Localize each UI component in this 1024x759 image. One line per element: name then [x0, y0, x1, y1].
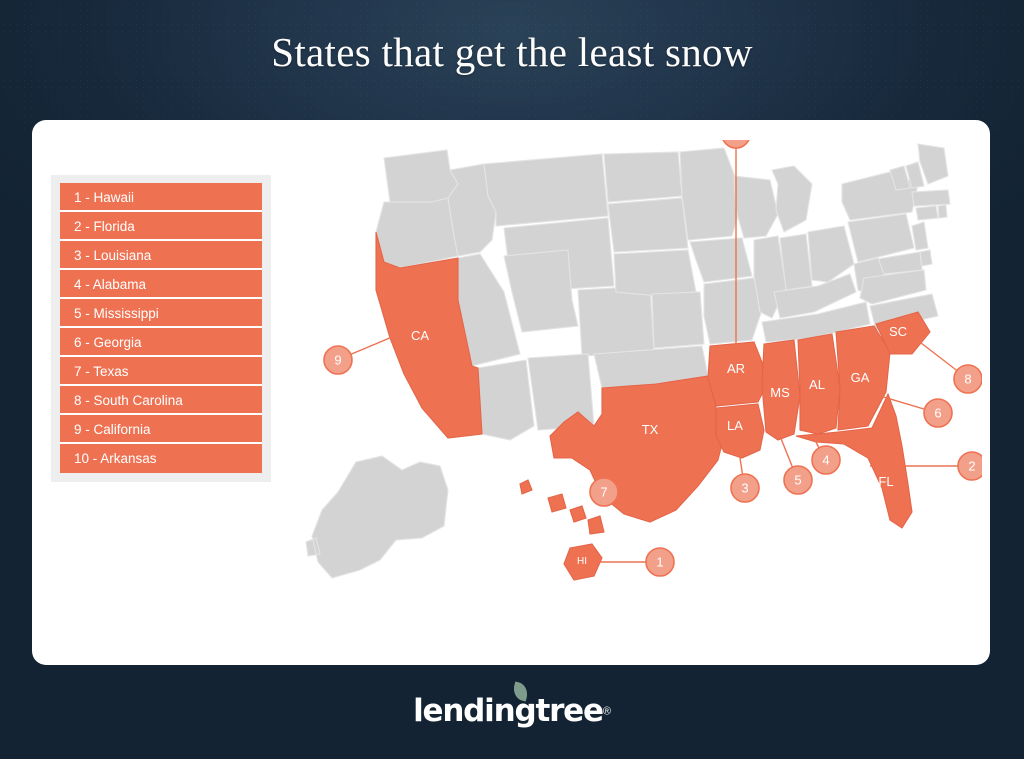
legend-item-8[interactable]: 8 - South Carolina [60, 386, 262, 415]
legend-item-2[interactable]: 2 - Florida [60, 212, 262, 241]
state-az [478, 360, 534, 440]
abbr-ms: MS [770, 385, 790, 400]
lendingtree-wordmark: lendingtree [413, 693, 603, 729]
svg-text:6: 6 [934, 406, 941, 421]
abbr-ga: GA [851, 370, 870, 385]
marker-4[interactable]: 4 [812, 446, 840, 474]
legend-item-10[interactable]: 10 - Arkansas [60, 444, 262, 473]
state-mo [704, 278, 762, 344]
legend-item-6[interactable]: 6 - Georgia [60, 328, 262, 357]
state-ma [912, 190, 950, 206]
legend-panel: 1 - Hawaii 2 - Florida 3 - Louisiana 4 -… [51, 175, 271, 482]
abbr-hi: HI [577, 556, 587, 567]
marker-7[interactable]: 7 [590, 478, 618, 506]
state-mi [772, 166, 812, 232]
svg-text:4: 4 [822, 453, 829, 468]
svg-text:5: 5 [794, 473, 801, 488]
marker-9[interactable]: 9 [324, 346, 352, 374]
abbr-ca: CA [411, 328, 429, 343]
legend-item-1[interactable]: 1 - Hawaii [60, 183, 262, 212]
state-mt [484, 154, 608, 226]
marker-10[interactable]: 10 [722, 140, 750, 148]
marker-8[interactable]: 8 [954, 365, 982, 393]
state-ak [306, 456, 448, 578]
state-sd [608, 198, 688, 252]
state-mn [680, 148, 742, 240]
svg-text:3: 3 [741, 481, 748, 496]
svg-text:2: 2 [968, 459, 975, 474]
page-title: States that get the least snow [0, 28, 1024, 76]
svg-text:10: 10 [729, 140, 743, 142]
marker-1[interactable]: 1 [646, 548, 674, 576]
marker-3[interactable]: 3 [731, 474, 759, 502]
svg-text:1: 1 [656, 555, 663, 570]
state-in [780, 234, 812, 290]
state-wa [384, 150, 458, 206]
state-nj [912, 222, 928, 250]
state-co [578, 286, 654, 356]
marker-6[interactable]: 6 [924, 399, 952, 427]
state-or [376, 198, 458, 268]
legend-item-4[interactable]: 4 - Alabama [60, 270, 262, 299]
legend-item-5[interactable]: 5 - Mississippi [60, 299, 262, 328]
legend-item-9[interactable]: 9 - California [60, 415, 262, 444]
state-ri [938, 205, 947, 218]
trademark-symbol: ® [603, 706, 611, 718]
state-ut [504, 250, 578, 332]
svg-text:9: 9 [334, 353, 341, 368]
state-nd [604, 152, 682, 202]
svg-text:8: 8 [964, 372, 971, 387]
abbr-al: AL [809, 377, 825, 392]
leader-line-8 [912, 336, 964, 376]
logo-text: lendingtree [413, 693, 603, 729]
state-wi [734, 176, 778, 238]
lendingtree-logo: lendingtree® [0, 693, 1024, 729]
abbr-tx: TX [642, 422, 659, 437]
legend-item-3[interactable]: 3 - Louisiana [60, 241, 262, 270]
state-oh [808, 226, 854, 282]
state-ks [652, 292, 704, 348]
abbr-fl: FL [878, 474, 893, 489]
marker-5[interactable]: 5 [784, 466, 812, 494]
legend-item-7[interactable]: 7 - Texas [60, 357, 262, 386]
state-ia [690, 238, 752, 282]
us-map[interactable]: CA TX AR LA MS AL GA SC FL HI [272, 140, 982, 650]
abbr-la: LA [727, 418, 743, 433]
state-ct [916, 206, 938, 220]
marker-2[interactable]: 2 [958, 452, 982, 480]
svg-text:7: 7 [600, 485, 607, 500]
abbr-sc: SC [889, 324, 907, 339]
content-card: 1 - Hawaii 2 - Florida 3 - Louisiana 4 -… [32, 120, 990, 665]
state-ne [614, 250, 696, 296]
